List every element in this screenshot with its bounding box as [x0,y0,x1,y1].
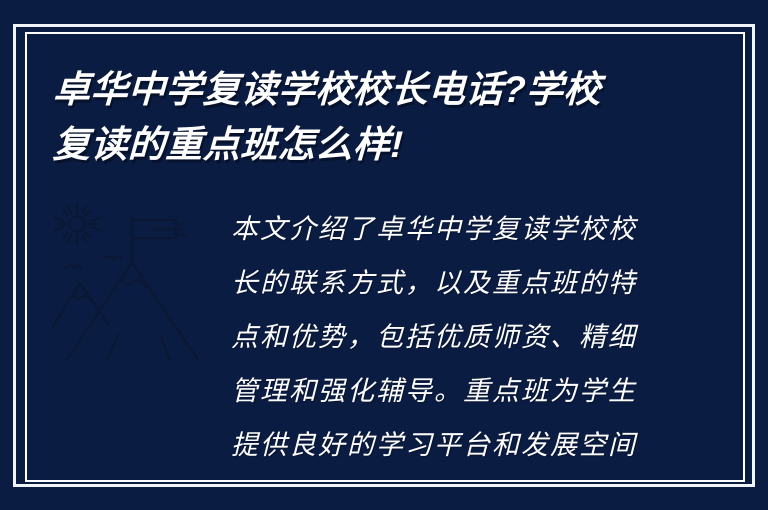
body-line-4: 管理和强化辅导。重点班为学生 [231,365,661,419]
title-line-2: 复读的重点班怎么样! [52,117,694,172]
title-line-1: 卓华中学复读学校校长电话?学校 [52,62,694,117]
mountain-peak-flag-illustration [52,202,224,362]
bird-icon [66,266,82,268]
body-line-2: 长的联系方式，以及重点班的特 [231,257,661,311]
body-line-3: 点和优势，包括优质师资、精细 [231,311,661,365]
sun-icon [55,205,99,243]
body-line-5: 提供良好的学习平台和发展空间 [231,419,661,473]
body-paragraph: 本文介绍了卓华中学复读学校校 长的联系方式，以及重点班的特 点和优势，包括优质师… [231,203,661,473]
flag-icon [132,216,186,260]
bird-icon [104,257,122,260]
poster-card: 卓华中学复读学校校长电话?学校 复读的重点班怎么样! [0,0,768,510]
mountain-large-icon [67,262,198,360]
body-line-1: 本文介绍了卓华中学复读学校校 [231,203,661,257]
page-title: 卓华中学复读学校校长电话?学校 复读的重点班怎么样! [53,62,693,172]
